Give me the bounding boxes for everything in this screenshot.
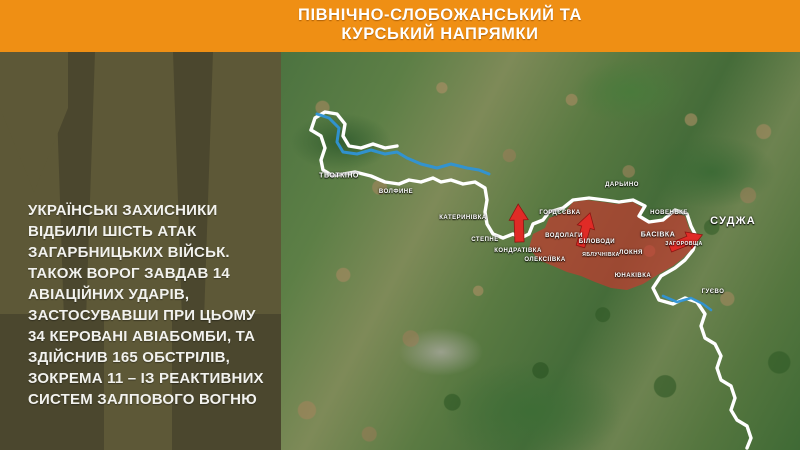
settlement-label: БІЛОВОДИ <box>579 239 615 245</box>
report-panel: УКРАЇНСЬКІ ЗАХИСНИКИ ВІДБИЛИ ШІСТЬ АТАК … <box>0 52 281 450</box>
settlement-label: СТЕПНЕ <box>471 237 499 243</box>
settlement-label: ВОЛФИНЕ <box>379 189 413 195</box>
settlement-label: СУДЖА <box>710 215 756 227</box>
settlement-label: ЗАГОРОВЩА <box>665 241 702 247</box>
state-border-line <box>311 130 751 448</box>
page-title-line-2: КУРСЬКИЙ НАПРЯМКИ <box>180 25 700 44</box>
trident-center-spike-icon <box>0 52 68 192</box>
settlement-label: ЯБЛУЧНІВКА <box>582 252 619 258</box>
settlement-label: ТЬОТКІНО <box>319 173 359 180</box>
satellite-map[interactable]: ТЬОТКІНОВОЛФИНЕКАТЕРИНІВКАСТЕПНЕКОНДРАТІ… <box>281 52 800 450</box>
settlement-label: ДАРЬИНО <box>605 182 639 188</box>
header-banner: ПІВНІЧНО-СЛОБОЖАНСЬКИЙ ТА КУРСЬКИЙ НАПРЯ… <box>0 0 800 52</box>
settlement-label: ОЛЕКСІЇВКА <box>524 257 565 263</box>
settlement-label: КОНДРАТІВКА <box>494 248 542 254</box>
settlement-label: ГУЄВО <box>702 289 725 295</box>
settlement-label: БАСІВКА <box>641 232 676 239</box>
settlement-label: НОВЕНЬКЕ <box>650 210 688 216</box>
settlement-label: КАТЕРИНІВКА <box>439 215 487 221</box>
page-title: ПІВНІЧНО-СЛОБОЖАНСЬКИЙ ТА КУРСЬКИЙ НАПРЯ… <box>180 6 700 44</box>
settlement-label: ЛОКНЯ <box>619 250 643 256</box>
infographic-map-slide: ПІВНІЧНО-СЛОБОЖАНСЬКИЙ ТА КУРСЬКИЙ НАПРЯ… <box>0 0 800 450</box>
settlement-label: ГОРДЄЄВКА <box>539 210 580 216</box>
page-title-line-1: ПІВНІЧНО-СЛОБОЖАНСЬКИЙ ТА <box>298 6 582 24</box>
settlement-label: ВОДОЛАГИ <box>545 233 583 239</box>
report-text: УКРАЇНСЬКІ ЗАХИСНИКИ ВІДБИЛИ ШІСТЬ АТАК … <box>0 192 281 410</box>
settlement-label: ЮНАКІВКА <box>615 273 652 279</box>
